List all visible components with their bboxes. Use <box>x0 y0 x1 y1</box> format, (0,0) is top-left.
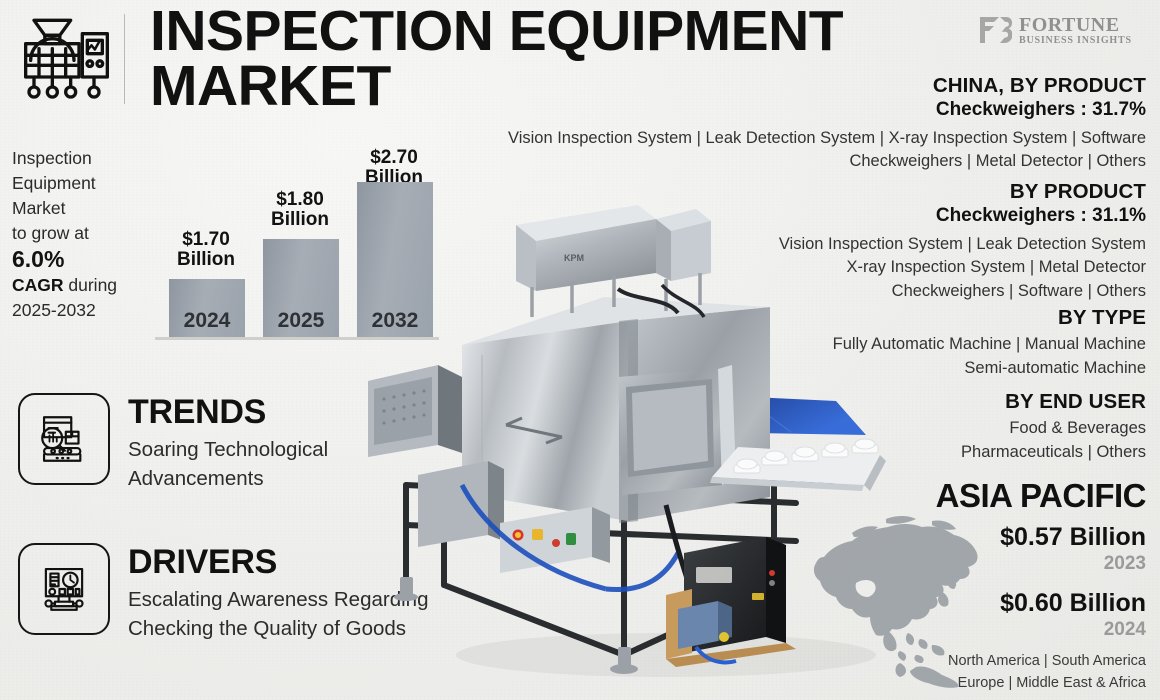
by-type-heading: BY TYPE <box>726 306 1146 330</box>
segment-by-end-user: BY END USER Food & Beverages Pharmaceuti… <box>726 390 1146 464</box>
logo-line-1: FORTUNE <box>1019 15 1132 35</box>
svg-text:KPM: KPM <box>564 253 584 263</box>
region-asia-pacific: ASIA PACIFIC $0.57 Billion 2023 $0.60 Bi… <box>726 478 1146 695</box>
other-regions-line-1: North America | South America <box>726 651 1146 673</box>
conveyor-magnifier-icon <box>18 393 110 485</box>
bar-year-2025: 2025 <box>263 309 339 333</box>
infographic-canvas: INSPECTION EQUIPMENT MARKET FORTUNE BUSI… <box>0 0 1160 700</box>
segment-by-product: BY PRODUCT Checkweighers : 31.1% Vision … <box>726 180 1146 303</box>
summary-line-4: to grow at <box>12 223 89 243</box>
by-end-user-items-1: Food & Beverages <box>726 417 1146 440</box>
bar-year-2024: 2024 <box>169 309 245 333</box>
summary-line-3: Market <box>12 198 65 218</box>
china-by-product-highlight: Checkweighers : 31.7% <box>146 98 1146 123</box>
by-product-heading: BY PRODUCT <box>726 180 1146 204</box>
fb-monogram-icon <box>978 14 1012 46</box>
china-by-product-heading: CHINA, BY PRODUCT <box>146 74 1146 98</box>
by-product-highlight: Checkweighers : 31.1% <box>726 204 1146 229</box>
market-summary: Inspection Equipment Market to grow at 6… <box>12 146 152 323</box>
inspection-machine-icon <box>14 12 114 102</box>
bar-value-label-2024: $1.70 Billion <box>163 230 249 270</box>
trends-text: TRENDS Soaring Technological Advancement… <box>128 393 328 493</box>
by-type-items-1: Fully Automatic Machine | Manual Machine <box>726 333 1146 356</box>
region-year-2023: 2023 <box>726 552 1146 576</box>
bar-value-label-2025: $1.80 Billion <box>257 190 343 230</box>
control-panel-icon <box>18 543 110 635</box>
cagr-period: 2025-2032 <box>12 300 96 320</box>
region-value-2023: $0.57 Billion <box>726 522 1146 552</box>
logo-line-2: BUSINESS INSIGHTS <box>1019 36 1132 46</box>
by-type-items-2: Semi-automatic Machine <box>726 357 1146 380</box>
cagr-value: 6.0% <box>12 245 152 273</box>
by-product-items-2: X-ray Inspection System | Metal Detector <box>726 256 1146 279</box>
segment-china-by-product: CHINA, BY PRODUCT Checkweighers : 31.7% … <box>146 74 1146 174</box>
bar-2024: 2024 <box>169 279 245 337</box>
bar-2025: 2025 <box>263 239 339 337</box>
trends-body: Soaring Technological Advancements <box>128 435 328 493</box>
by-product-items-3: Checkweighers | Software | Others <box>726 280 1146 303</box>
summary-line-1: Inspection <box>12 148 92 168</box>
other-regions-line-2: Europe | Middle East & Africa <box>726 673 1146 695</box>
summary-line-2: Equipment <box>12 173 96 193</box>
region-year-2024: 2024 <box>726 618 1146 642</box>
region-heading: ASIA PACIFIC <box>726 478 1146 515</box>
bar-value-2025: $1.80 <box>276 189 324 210</box>
bar-unit-2025: Billion <box>271 209 329 230</box>
fortune-business-insights-logo: FORTUNE BUSINESS INSIGHTS <box>978 8 1148 52</box>
header-divider <box>124 14 125 104</box>
by-end-user-items-2: Pharmaceuticals | Others <box>726 441 1146 464</box>
by-product-items-1: Vision Inspection System | Leak Detectio… <box>726 233 1146 256</box>
trends-block: TRENDS Soaring Technological Advancement… <box>18 393 378 493</box>
cagr-label: CAGR <box>12 275 64 295</box>
china-by-product-items-1: Vision Inspection System | Leak Detectio… <box>146 127 1146 150</box>
bar-unit-2024: Billion <box>177 249 235 270</box>
china-by-product-items-2: Checkweighers | Metal Detector | Others <box>146 150 1146 173</box>
region-value-2024: $0.60 Billion <box>726 588 1146 618</box>
drivers-body-line-2: Checking the Quality of Goods <box>128 617 406 640</box>
title-line-1: INSPECTION EQUIPMENT <box>150 4 850 59</box>
segment-by-type: BY TYPE Fully Automatic Machine | Manual… <box>726 306 1146 380</box>
cagr-during: during <box>64 275 118 295</box>
trends-body-line-2: Advancements <box>128 467 264 490</box>
bar-value-2024: $1.70 <box>182 229 230 250</box>
by-end-user-heading: BY END USER <box>726 390 1146 414</box>
trends-body-line-1: Soaring Technological <box>128 438 328 461</box>
logo-wordmark: FORTUNE BUSINESS INSIGHTS <box>1019 15 1132 46</box>
trends-heading: TRENDS <box>128 395 328 429</box>
